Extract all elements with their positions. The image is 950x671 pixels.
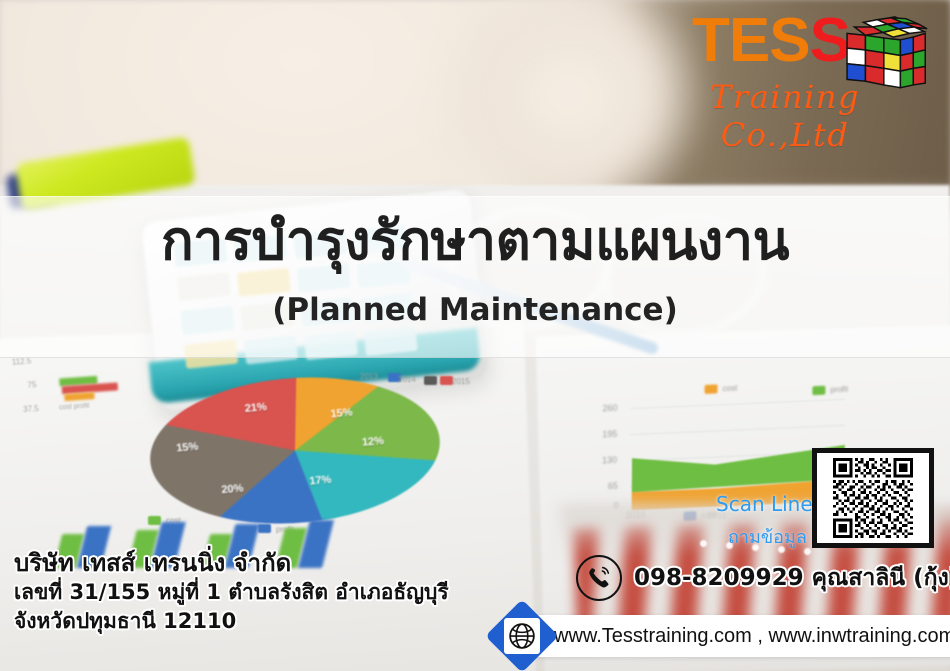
logo-tagline: Training Co.,Ltd — [640, 78, 930, 154]
company-name: บริษัท เทสส์ เทรนนิ่ง จำกัด — [14, 548, 449, 578]
pie-chart: 15% 12% 17% 20% 15% 21% — [149, 370, 441, 531]
website-urls: www.Tesstraining.com , www.inwtraining.c… — [554, 625, 950, 648]
qr-code-icon[interactable] — [812, 448, 934, 548]
address-line-2: จังหวัดปทุมธานี 12110 — [14, 607, 449, 636]
logo-wordmark: TESS — [640, 10, 850, 72]
scan-line-sublabel: ถามข้อมูล — [728, 522, 807, 551]
page-title-thai: การบำรุงรักษาตามแผนงาน — [0, 214, 950, 268]
company-logo: TESS — [640, 6, 940, 134]
page-title-english: (Planned Maintenance) — [0, 292, 950, 328]
phone-contact[interactable]: 098-8209929 คุณสาลินี (กุ้ง) — [576, 556, 950, 600]
phone-icon — [576, 555, 622, 601]
phone-number: 098-8209929 คุณสาลินี (กุ้ง) — [634, 560, 950, 596]
scan-line-label: Scan Line — [716, 492, 813, 516]
website-pill[interactable]: www.Tesstraining.com , www.inwtraining.c… — [520, 615, 950, 657]
logo-word-te: TES — [692, 6, 810, 75]
address-line-1: เลขที่ 31/155 หมู่ที่ 1 ตำบลรังสิต อำเภอ… — [14, 578, 449, 607]
poster-canvas: 112.5 75 37.5 cost profit 15% 12% 17% 20… — [0, 0, 950, 671]
company-address: บริษัท เทสส์ เทรนนิ่ง จำกัด เลขที่ 31/15… — [14, 548, 449, 636]
